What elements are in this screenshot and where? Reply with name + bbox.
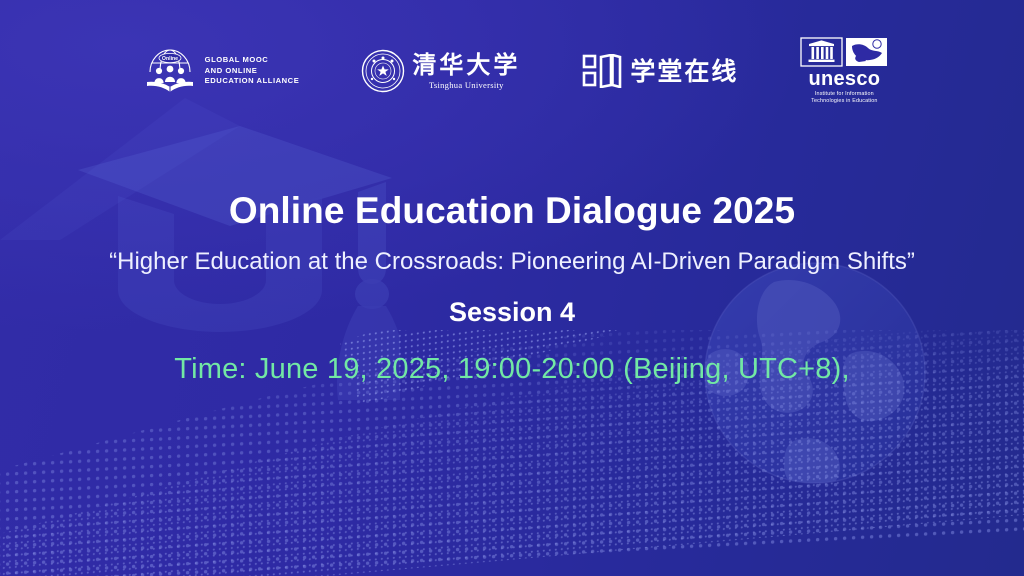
slide-canvas: Online GLOBAL MOOC AND ONLINE EDUCATION … (0, 0, 1024, 576)
session-time: Time: June 19, 2025, 19:00-20:00 (Beijin… (0, 353, 1024, 386)
event-subtitle: “Higher Education at the Crossroads: Pio… (0, 248, 1024, 276)
event-title: Online Education Dialogue 2025 (0, 190, 1024, 232)
slide-text-content: Online Education Dialogue 2025 “Higher E… (0, 0, 1024, 576)
session-label: Session 4 (0, 297, 1024, 328)
